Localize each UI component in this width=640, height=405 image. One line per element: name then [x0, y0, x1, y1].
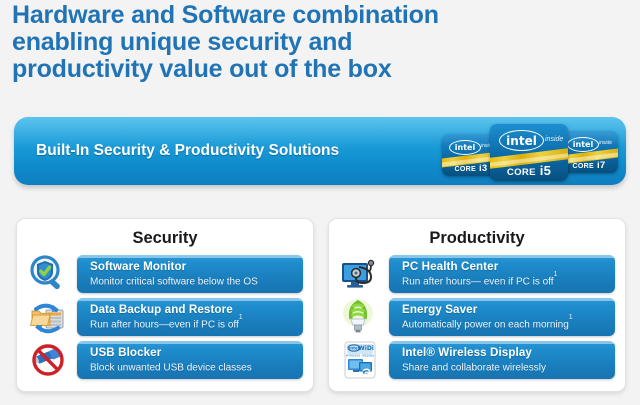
list-item[interactable]: intel WiDi wireless display — [339, 341, 617, 379]
item-footnote: 1 — [569, 314, 573, 321]
badge-core-word: CORE — [507, 167, 536, 178]
list-item[interactable]: PC Health Center Run after hours— even i… — [339, 255, 617, 293]
item-subtitle: Block unwanted USB device classes — [90, 361, 252, 373]
item-subtitle-text: Share and collaborate wirelessly — [402, 362, 546, 373]
pill-intel-wireless-display[interactable]: Intel® Wireless Display Share and collab… — [389, 341, 615, 379]
item-footnote: 1 — [554, 271, 558, 278]
page-title-line-1: Hardware and Software combination — [12, 2, 622, 29]
intel-badge-group: intel inside CORE i3 intel inside CORE i… — [438, 117, 618, 185]
page-title: Hardware and Software combination enabli… — [12, 2, 622, 82]
list-item[interactable]: USB Blocker Block unwanted USB device cl… — [27, 341, 305, 379]
badge-core-model: i3 — [479, 163, 488, 174]
item-subtitle: Monitor critical software below the OS — [90, 275, 258, 287]
page-title-line-2: enabling unique security and — [12, 29, 622, 56]
intel-logo-icon: intel — [449, 140, 481, 155]
item-title: Software Monitor — [90, 260, 186, 273]
item-subtitle: Run after hours— even if PC is off1 — [402, 275, 557, 287]
item-subtitle: Share and collaborate wirelessly — [402, 361, 546, 373]
badge-core-label: CORE i5 — [490, 163, 568, 178]
cfl-bulb-icon — [339, 297, 381, 337]
backup-restore-icon — [27, 297, 69, 337]
pill-data-backup-and-restore[interactable]: Data Backup and Restore Run after hours—… — [77, 298, 303, 336]
item-title: Data Backup and Restore — [90, 303, 233, 316]
security-item-list: Software Monitor Monitor critical softwa… — [27, 255, 305, 384]
item-title: USB Blocker — [90, 346, 161, 359]
shield-magnifier-icon — [27, 254, 69, 294]
intel-core-i7-badge: intel inside CORE i7 — [560, 131, 618, 173]
intel-inside-label: inside — [545, 136, 563, 143]
intel-inside-label: inside — [599, 140, 612, 146]
security-panel-heading: Security — [17, 229, 313, 248]
productivity-panel: Productivity — [328, 218, 626, 392]
list-item[interactable]: Software Monitor Monitor critical softwa… — [27, 255, 305, 293]
pc-stethoscope-icon — [339, 254, 381, 294]
productivity-item-list: PC Health Center Run after hours— even i… — [339, 255, 617, 384]
productivity-panel-heading: Productivity — [329, 229, 625, 248]
item-footnote: 1 — [239, 314, 243, 321]
usb-blocked-icon — [27, 340, 69, 380]
page-title-line-3: productivity value out of the box — [12, 56, 622, 83]
badge-core-model: i5 — [540, 163, 551, 178]
slide-canvas: Hardware and Software combination enabli… — [0, 0, 640, 405]
badge-core-word: CORE — [573, 163, 594, 170]
pill-usb-blocker[interactable]: USB Blocker Block unwanted USB device cl… — [77, 341, 303, 379]
svg-text:WiDi: WiDi — [358, 345, 374, 352]
item-title: PC Health Center — [402, 260, 498, 273]
list-item[interactable]: Energy Saver Automatically power on each… — [339, 298, 617, 336]
solutions-banner: Built-In Security & Productivity Solutio… — [14, 117, 626, 185]
intel-logo-icon: intel — [499, 130, 544, 151]
item-title: Intel® Wireless Display — [402, 346, 532, 359]
pill-pc-health-center[interactable]: PC Health Center Run after hours— even i… — [389, 255, 615, 293]
intel-core-i5-badge: intel inside CORE i5 — [490, 124, 568, 181]
badge-core-word: CORE — [455, 166, 476, 173]
pill-energy-saver[interactable]: Energy Saver Automatically power on each… — [389, 298, 615, 336]
intel-logo-icon: intel — [567, 137, 599, 152]
item-subtitle-text: Run after hours—even if PC is off — [90, 319, 239, 330]
item-subtitle-text: Monitor critical software below the OS — [90, 276, 258, 287]
badge-core-model: i7 — [597, 160, 606, 171]
widi-badge-icon: intel WiDi wireless display — [339, 340, 381, 380]
svg-text:wireless display: wireless display — [346, 354, 375, 358]
item-subtitle-text: Run after hours— even if PC is off — [402, 276, 554, 287]
banner-heading: Built-In Security & Productivity Solutio… — [36, 142, 339, 160]
pill-software-monitor[interactable]: Software Monitor Monitor critical softwa… — [77, 255, 303, 293]
item-subtitle: Automatically power on each morning1 — [402, 318, 573, 330]
item-subtitle-text: Block unwanted USB device classes — [90, 362, 252, 373]
badge-core-label: CORE i7 — [560, 160, 618, 171]
list-item[interactable]: Data Backup and Restore Run after hours—… — [27, 298, 305, 336]
security-panel: Security Software Monitor Monitor critic — [16, 218, 314, 392]
item-title: Energy Saver — [402, 303, 477, 316]
item-subtitle: Run after hours—even if PC is off1 — [90, 318, 243, 330]
item-subtitle-text: Automatically power on each morning — [402, 319, 569, 330]
